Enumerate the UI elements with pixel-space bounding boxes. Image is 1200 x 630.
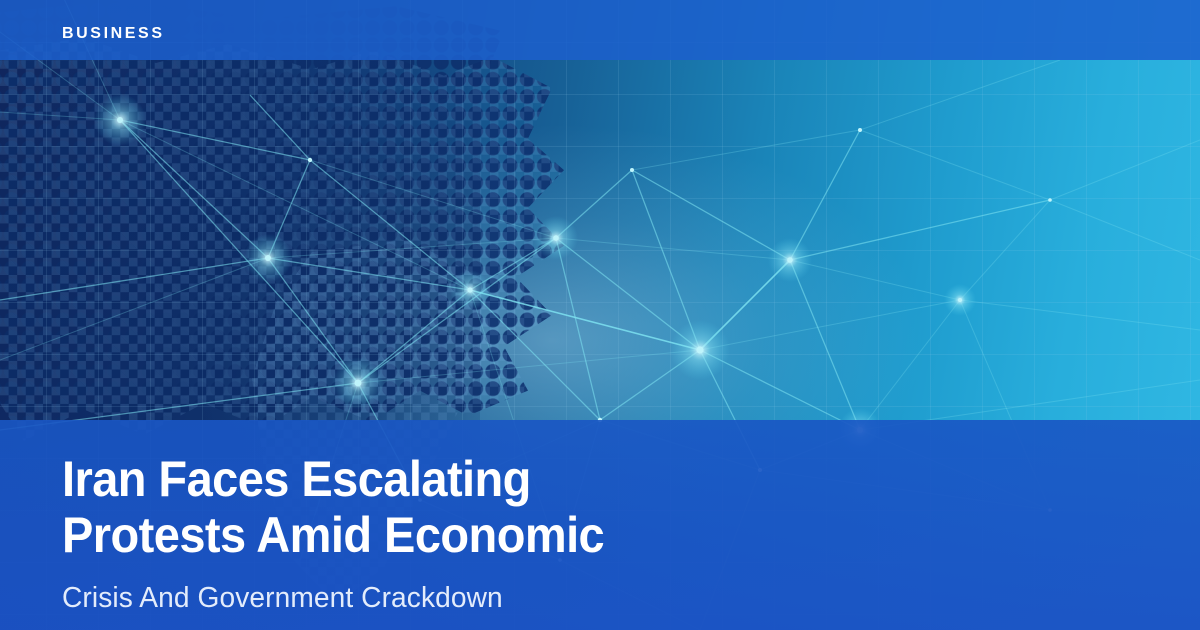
news-share-card: BUSINESS Iran Faces Escalating Protests …: [0, 0, 1200, 630]
subhead-text: Crisis And Government Crackdown: [62, 580, 503, 616]
category-band: [0, 0, 1200, 60]
headline-text: Iran Faces Escalating Protests Amid Econ…: [62, 451, 983, 563]
category-label: BUSINESS: [62, 24, 165, 44]
